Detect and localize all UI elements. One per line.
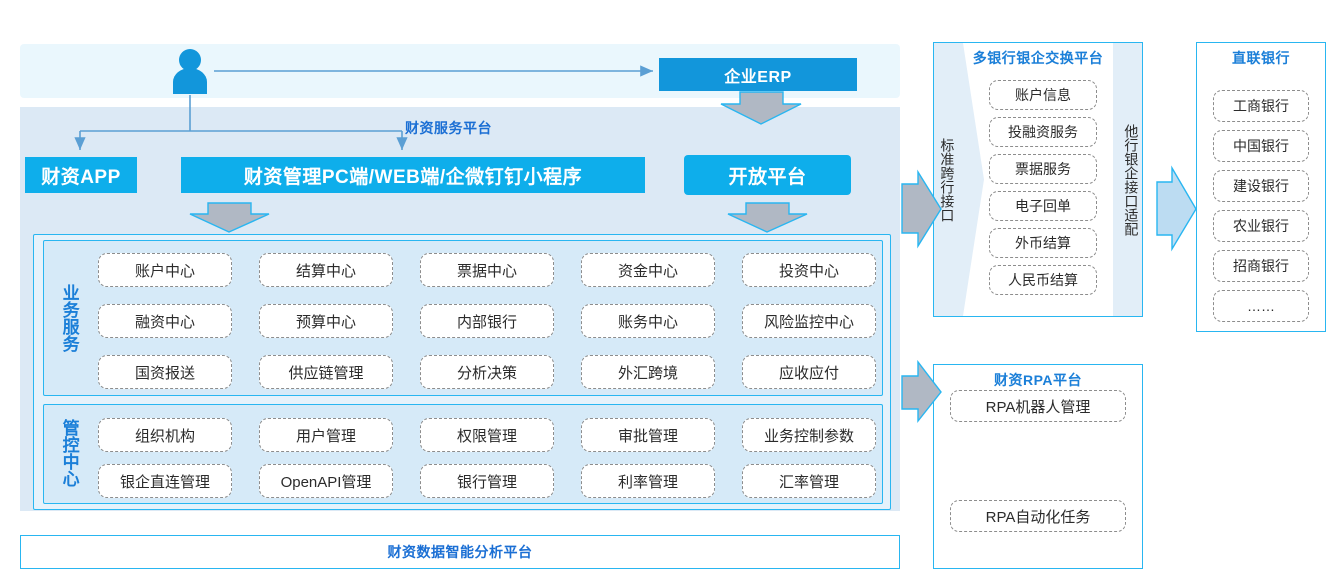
cell-label: 外币结算 [1015, 233, 1071, 253]
cell-label: 结算中心 [296, 260, 356, 281]
business-cell-10[interactable]: 风险监控中心 [742, 304, 876, 338]
control-cell-5[interactable]: 业务控制参数 [742, 418, 876, 452]
pc-label: 财资管理PC端/WEB端/企微钉钉小程序 [244, 162, 582, 189]
control-cell-10[interactable]: 汇率管理 [742, 464, 876, 498]
business-cell-1[interactable]: 账户中心 [98, 253, 232, 287]
standard-interface-label: 标准跨行接口 [936, 90, 958, 270]
rpa-title: 财资RPA平台 [933, 370, 1143, 390]
business-cell-5[interactable]: 投资中心 [742, 253, 876, 287]
analysis-platform-bar[interactable]: 财资数据智能分析平台 [20, 535, 900, 569]
cell-label: 业务控制参数 [764, 425, 854, 446]
cell-label: 人民币结算 [1008, 270, 1078, 290]
cell-label: 农业银行 [1233, 216, 1289, 236]
cell-label: 汇率管理 [779, 471, 839, 492]
rpa-cell-2[interactable]: RPA自动化任务 [950, 500, 1126, 532]
app-label: 财资APP [41, 162, 121, 189]
cell-label: 用户管理 [296, 425, 356, 446]
app-channel-box[interactable]: 财资APP [25, 157, 137, 193]
cell-label: …… [1247, 298, 1275, 314]
direct-bank-cell-5[interactable]: 招商银行 [1213, 250, 1309, 282]
rpa-cell-1[interactable]: RPA机器人管理 [950, 390, 1126, 422]
control-cell-4[interactable]: 审批管理 [581, 418, 715, 452]
direct-bank-cell-4[interactable]: 农业银行 [1213, 210, 1309, 242]
business-cell-15[interactable]: 应收应付 [742, 355, 876, 389]
control-cell-1[interactable]: 组织机构 [98, 418, 232, 452]
business-cell-6[interactable]: 融资中心 [98, 304, 232, 338]
cell-label: 融资中心 [135, 311, 195, 332]
cell-label: 外汇跨境 [618, 362, 678, 383]
platform-title: 财资服务平台 [405, 118, 492, 138]
open-label: 开放平台 [728, 162, 806, 189]
control-cell-9[interactable]: 利率管理 [581, 464, 715, 498]
business-cell-2[interactable]: 结算中心 [259, 253, 393, 287]
other-bank-adapter-label: 他行银企接口适配 [1120, 80, 1142, 280]
cell-label: 工商银行 [1233, 96, 1289, 116]
cell-label: 银企直连管理 [120, 471, 210, 492]
cell-label: 风险监控中心 [764, 311, 854, 332]
cell-label: 银行管理 [457, 471, 517, 492]
cell-label: 内部银行 [457, 311, 517, 332]
business-cell-8[interactable]: 内部银行 [420, 304, 554, 338]
control-center-label: 管控中心 [55, 410, 83, 496]
business-cell-11[interactable]: 国资报送 [98, 355, 232, 389]
control-cell-6[interactable]: 银企直连管理 [98, 464, 232, 498]
cell-label: 组织机构 [135, 425, 195, 446]
cell-label: 账务中心 [618, 311, 678, 332]
cell-label: 票据中心 [457, 260, 517, 281]
direct-bank-cell-3[interactable]: 建设银行 [1213, 170, 1309, 202]
business-cell-3[interactable]: 票据中心 [420, 253, 554, 287]
cell-label: 账户信息 [1015, 85, 1071, 105]
bank-service-cell-3[interactable]: 票据服务 [989, 154, 1097, 184]
bank-service-cell-2[interactable]: 投融资服务 [989, 117, 1097, 147]
cell-label: 资金中心 [618, 260, 678, 281]
cell-label: 分析决策 [457, 362, 517, 383]
control-cell-3[interactable]: 权限管理 [420, 418, 554, 452]
cell-label: 投资中心 [779, 260, 839, 281]
direct-bank-cell-1[interactable]: 工商银行 [1213, 90, 1309, 122]
cell-label: 招商银行 [1233, 256, 1289, 276]
bank-service-cell-1[interactable]: 账户信息 [989, 80, 1097, 110]
cell-label: RPA机器人管理 [986, 396, 1091, 417]
business-cell-14[interactable]: 外汇跨境 [581, 355, 715, 389]
bank-service-cell-4[interactable]: 电子回单 [989, 191, 1097, 221]
business-cell-4[interactable]: 资金中心 [581, 253, 715, 287]
cell-label: 权限管理 [457, 425, 517, 446]
erp-label: 企业ERP [724, 63, 791, 87]
business-cell-13[interactable]: 分析决策 [420, 355, 554, 389]
business-cell-9[interactable]: 账务中心 [581, 304, 715, 338]
right-arrow-to-direct-banks [1157, 168, 1196, 249]
pc-web-channel-box[interactable]: 财资管理PC端/WEB端/企微钉钉小程序 [181, 157, 645, 193]
cell-label: 投融资服务 [1008, 122, 1078, 142]
person-icon [168, 48, 212, 94]
bank-service-cell-6[interactable]: 人民币结算 [989, 265, 1097, 295]
control-cell-7[interactable]: OpenAPI管理 [259, 464, 393, 498]
bank-exchange-title: 多银行银企交换平台 [933, 48, 1143, 68]
direct-banks-title: 直联银行 [1196, 48, 1326, 68]
cell-label: 利率管理 [618, 471, 678, 492]
direct-bank-cell-2[interactable]: 中国银行 [1213, 130, 1309, 162]
cell-label: 中国银行 [1233, 136, 1289, 156]
analysis-label: 财资数据智能分析平台 [388, 542, 533, 562]
diagram-canvas: 企业ERP 财资服务平台 财资APP 财资管理PC端/WEB端/企微钉钉小程序 … [0, 0, 1329, 580]
control-cell-8[interactable]: 银行管理 [420, 464, 554, 498]
control-cell-2[interactable]: 用户管理 [259, 418, 393, 452]
business-cell-12[interactable]: 供应链管理 [259, 355, 393, 389]
direct-bank-cell-6[interactable]: …… [1213, 290, 1309, 322]
cell-label: 供应链管理 [288, 362, 363, 383]
cell-label: 预算中心 [296, 311, 356, 332]
cell-label: 应收应付 [779, 362, 839, 383]
cell-label: RPA自动化任务 [986, 506, 1091, 527]
open-platform-box[interactable]: 开放平台 [684, 155, 851, 195]
cell-label: 建设银行 [1233, 176, 1289, 196]
business-cell-7[interactable]: 预算中心 [259, 304, 393, 338]
cell-label: 审批管理 [618, 425, 678, 446]
cell-label: 票据服务 [1015, 159, 1071, 179]
bank-service-cell-5[interactable]: 外币结算 [989, 228, 1097, 258]
cell-label: 国资报送 [135, 362, 195, 383]
business-services-label: 业务服务 [55, 248, 83, 388]
erp-box[interactable]: 企业ERP [659, 58, 857, 91]
cell-label: 账户中心 [135, 260, 195, 281]
cell-label: 电子回单 [1015, 196, 1071, 216]
cell-label: OpenAPI管理 [281, 471, 372, 492]
